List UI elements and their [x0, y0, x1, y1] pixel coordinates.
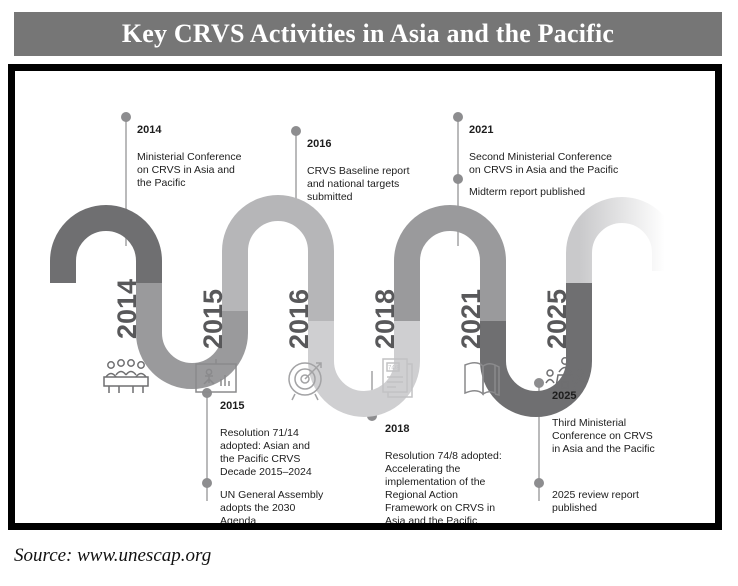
annotation-2016-text: CRVS Baseline report and national target…: [307, 165, 437, 204]
ribbon-year-2015: 2015: [198, 289, 228, 349]
dot-2014: [121, 112, 131, 122]
dot-2021: [453, 112, 463, 122]
dot-un-agenda: [202, 478, 212, 488]
annotation-2018: 2018 Resolution 74/8 adopted: Accelerati…: [385, 410, 515, 524]
annotation-2014: 2014 Ministerial Conference on CRVS in A…: [137, 111, 262, 203]
annotation-2014-year: 2014: [137, 124, 262, 137]
ribbon-segment-2014: [63, 218, 149, 283]
annotation-2016: 2016 CRVS Baseline report and national t…: [307, 125, 437, 217]
annotation-un-agenda: UN General Assembly adopts the 2030 Agen…: [220, 476, 340, 524]
ribbon-year-2016: 2016: [284, 289, 314, 349]
title-bar: Key CRVS Activities in Asia and the Paci…: [14, 12, 722, 56]
annotation-2014-text: Ministerial Conference on CRVS in Asia a…: [137, 151, 262, 190]
ribbon-year-2014: 2014: [112, 279, 142, 339]
dot-midterm: [453, 174, 463, 184]
annotation-2018-year: 2018: [385, 423, 515, 436]
annotation-2025-text: Third Ministerial Conference on CRVS in …: [552, 417, 672, 456]
audience-people-icon: [104, 360, 148, 393]
document-icon-label: 74/8: [388, 366, 400, 372]
dot-2015: [202, 388, 212, 398]
annotation-2015-text: Resolution 71/14 adopted: Asian and the …: [220, 427, 340, 479]
timeline-ribbon: [63, 208, 665, 404]
ribbon-segment-tail: [579, 210, 665, 283]
annotation-2018-text: Resolution 74/8 adopted: Accelerating th…: [385, 450, 515, 524]
dot-2025-review: [534, 478, 544, 488]
annotation-2025-review-text: 2025 review report published: [552, 489, 677, 515]
dot-2025: [534, 378, 544, 388]
infographic-canvas: 2014 2015 2016 2018 2021 2025: [14, 70, 716, 524]
annotation-2025: 2025 Third Ministerial Conference on CRV…: [552, 377, 672, 469]
ribbon-year-2018: 2018: [370, 289, 400, 349]
annotation-2025-year: 2025: [552, 390, 672, 403]
source-caption: Source: www.unescap.org: [14, 545, 211, 567]
annotation-midterm-report: Midterm report published: [469, 173, 654, 212]
annotation-2015-year: 2015: [220, 400, 340, 413]
page-title: Key CRVS Activities in Asia and the Paci…: [122, 19, 614, 49]
ribbon-year-2021: 2021: [456, 289, 486, 349]
annotation-midterm-report-text: Midterm report published: [469, 186, 654, 199]
ribbon-year-2025: 2025: [542, 289, 572, 349]
dot-2016: [291, 126, 301, 136]
annotation-2021-year: 2021: [469, 124, 654, 137]
annotation-2016-year: 2016: [307, 138, 437, 151]
annotation-un-agenda-text: UN General Assembly adopts the 2030 Agen…: [220, 489, 340, 524]
annotation-2025-review: 2025 review report published: [552, 476, 677, 524]
